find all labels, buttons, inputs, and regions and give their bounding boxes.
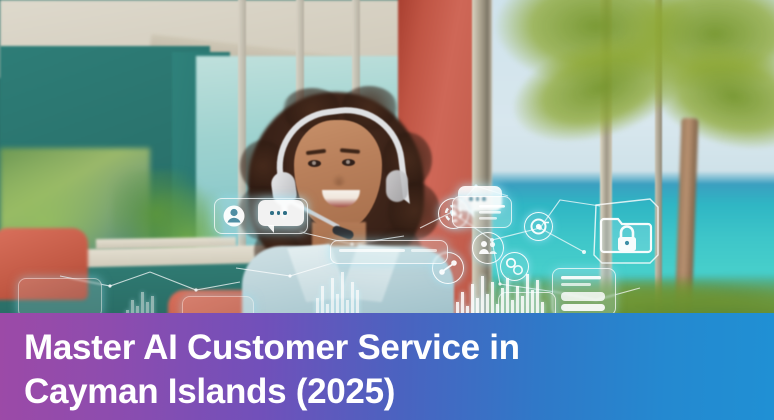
page-title: Master AI Customer Service in Cayman Isl… <box>24 326 744 414</box>
agent-figure <box>236 86 466 336</box>
hero-banner-image: Master AI Customer Service in Cayman Isl… <box>0 0 774 420</box>
chair-coral <box>0 228 88 300</box>
title-banner: Master AI Customer Service in Cayman Isl… <box>0 313 774 420</box>
headset-earcup <box>386 170 408 202</box>
